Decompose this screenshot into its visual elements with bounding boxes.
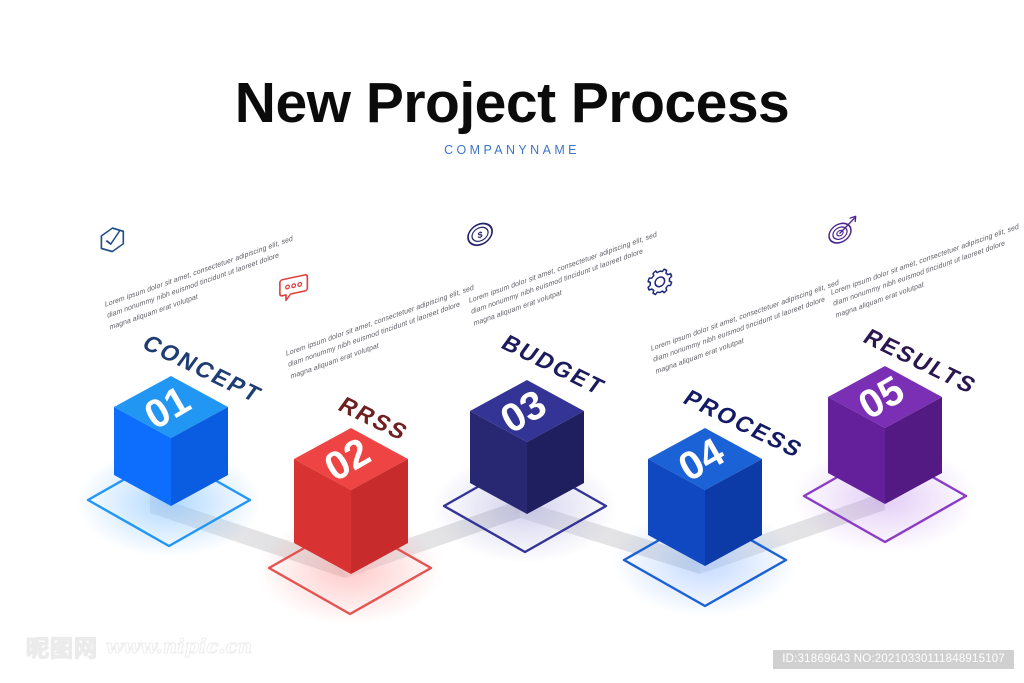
gear-icon — [640, 262, 682, 304]
step-cube-05[interactable]: 05 — [820, 362, 950, 522]
infographic-canvas: New Project Process COMPANYNAME Lorem ip… — [0, 0, 1024, 683]
step-cube-04[interactable]: 04 — [640, 424, 770, 584]
watermark-site-cn: 昵图网 — [26, 629, 98, 663]
target-arrow-icon — [822, 212, 864, 254]
step-cube-03[interactable]: 03 — [462, 376, 592, 531]
watermark-site-url: www.nipic.cn — [106, 634, 252, 658]
step-cube-02[interactable]: 02 — [286, 424, 416, 594]
coin-dollar-icon: $ — [460, 215, 502, 257]
watermark-site: 昵图网 www.nipic.cn — [26, 629, 252, 663]
svg-text:$: $ — [478, 229, 483, 240]
watermark-id: ID:31869643 NO:20210330111848915107 — [773, 650, 1014, 669]
chat-bubble-icon — [273, 267, 315, 309]
step-cube-01[interactable]: 01 — [106, 372, 236, 522]
check-shield-icon — [92, 220, 134, 262]
